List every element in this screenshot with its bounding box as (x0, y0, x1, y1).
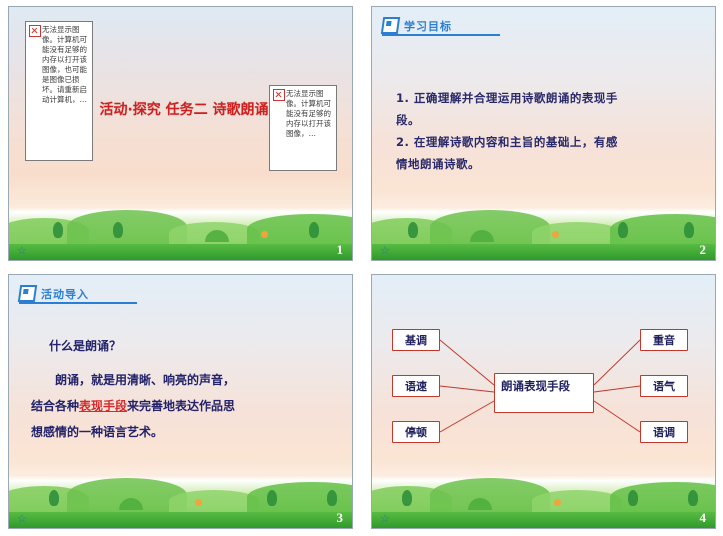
grass-decoration (9, 476, 352, 528)
question-text: 什么是朗诵？ (49, 337, 121, 354)
highlight-term: 表现手段 (79, 399, 127, 413)
tree-icon (49, 490, 59, 506)
slide-2[interactable]: 学习目标 1. 正确理解并合理运用诗歌朗诵的表现手 段。 2. 在理解诗歌内容和… (371, 6, 716, 261)
tree-icon (309, 222, 319, 238)
flower-icon (261, 231, 268, 238)
header-underline (19, 302, 137, 304)
hill-shape (247, 482, 353, 512)
slide-3[interactable]: 活动导入 什么是朗诵？ 朗诵，就是用清晰、响亮的声音， 结合各种表现手段来完善地… (8, 274, 353, 529)
objective-line-1: 1. 正确理解并合理运用诗歌朗诵的表现手 (396, 87, 618, 109)
flower-icon (195, 499, 202, 506)
hill-shape (247, 214, 353, 244)
mindmap-center-node: 朗诵表现手段 (494, 373, 594, 413)
slide-header-label: 活动导入 (41, 286, 89, 302)
mindmap-node-left-1: 基调 (392, 329, 440, 351)
tree-icon (53, 222, 63, 238)
page-number: 4 (700, 510, 707, 526)
broken-image-icon (29, 25, 41, 37)
mindmap-node-left-3: 停顿 (392, 421, 440, 443)
flag-icon (18, 285, 37, 302)
slide-header-label: 学习目标 (404, 18, 452, 34)
slide-header: 活动导入 (19, 285, 89, 302)
slide-header: 学习目标 (382, 17, 452, 34)
objective-line-2: 段。 (396, 109, 420, 131)
slide-4[interactable]: 朗诵表现手段 基调 语速 停顿 重音 语气 语调 ☆ 4 (371, 274, 716, 529)
tree-icon (113, 222, 123, 238)
star-icon: ☆ (17, 512, 27, 525)
objective-line-4: 情地朗诵诗歌。 (396, 153, 480, 175)
hill-shape (532, 222, 622, 244)
page-number: 1 (337, 242, 344, 258)
flag-icon (381, 17, 400, 34)
definition-line-2b: 来完善地表达作品思 (127, 399, 235, 413)
grass-decoration (372, 208, 715, 260)
tree-icon (408, 222, 418, 238)
tree-icon (618, 222, 628, 238)
definition-line-1: 朗诵，就是用清晰、响亮的声音， (55, 373, 235, 387)
slide-title: 活动·探究 任务二 诗歌朗诵 (59, 99, 309, 121)
broken-image-text: 无法显示图像。计算机可能没有足够的内存以打开该图像，也可能是图像已损坏。请重新启… (42, 25, 87, 104)
star-icon: ☆ (380, 244, 390, 257)
grass-decoration (9, 208, 352, 260)
hill-shape (169, 490, 259, 512)
tree-icon (267, 490, 277, 506)
page-number: 2 (700, 242, 707, 258)
tree-icon (327, 490, 337, 506)
broken-image-placeholder: 无法显示图像。计算机可能没有足够的内存以打开该图像，也可能是图像已损坏。请重新启… (25, 21, 93, 161)
slide-1[interactable]: 无法显示图像。计算机可能没有足够的内存以打开该图像，也可能是图像已损坏。请重新启… (8, 6, 353, 261)
definition-line-3: 想感情的一种语言艺术。 (31, 425, 163, 439)
tree-icon (684, 222, 694, 238)
definition-line-2a: 结合各种 (31, 399, 79, 413)
slide-thumbnail-grid: 无法显示图像。计算机可能没有足够的内存以打开该图像，也可能是图像已损坏。请重新启… (0, 0, 723, 536)
flower-icon (554, 499, 561, 506)
header-underline (382, 34, 500, 36)
broken-image-placeholder: 无法显示图像。计算机可能没有足够的内存以打开该图像，… (269, 85, 337, 171)
mindmap-node-left-2: 语速 (392, 375, 440, 397)
mindmap-node-right-1: 重音 (640, 329, 688, 351)
star-icon: ☆ (17, 244, 27, 257)
page-number: 3 (337, 510, 344, 526)
mindmap-node-right-2: 语气 (640, 375, 688, 397)
star-icon: ☆ (380, 512, 390, 525)
objective-line-3: 2. 在理解诗歌内容和主旨的基础上，有感 (396, 131, 618, 153)
definition-paragraph: 朗诵，就是用清晰、响亮的声音， 结合各种表现手段来完善地表达作品思 想感情的一种… (31, 367, 331, 445)
flower-icon (552, 231, 559, 238)
mindmap-node-right-3: 语调 (640, 421, 688, 443)
